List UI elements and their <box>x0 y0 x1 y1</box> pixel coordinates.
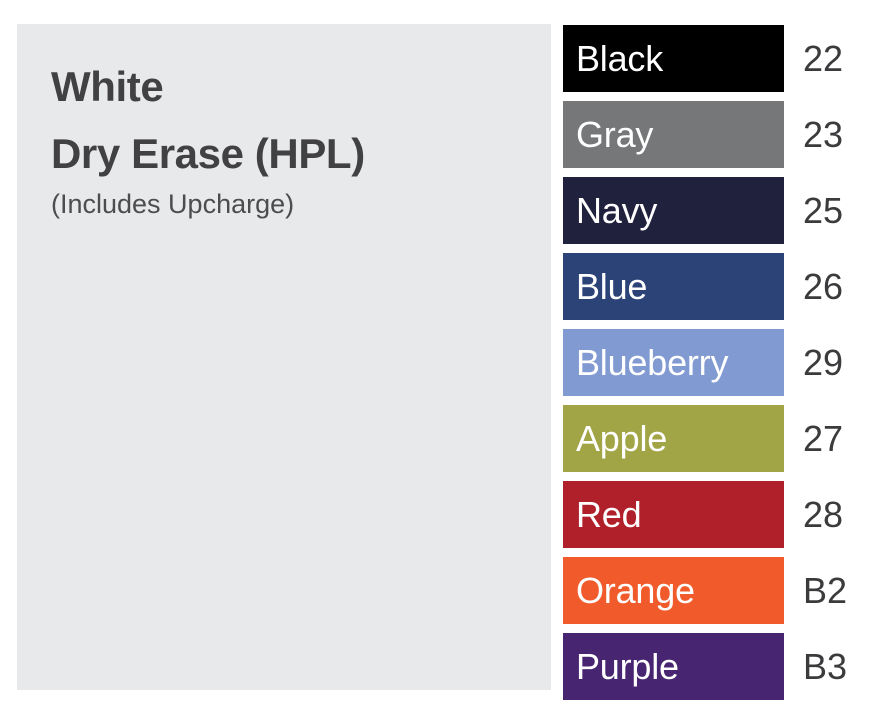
color-code-label: B3 <box>784 633 847 700</box>
finish-title-primary: White <box>51 62 551 111</box>
color-name-label: Purple <box>576 649 679 685</box>
color-code-label: 25 <box>784 177 843 244</box>
finish-info-panel: White Dry Erase (HPL) (Includes Upcharge… <box>17 24 551 690</box>
color-code-label: 23 <box>784 101 843 168</box>
color-swatch[interactable]: Apple <box>563 405 784 472</box>
color-swatch[interactable]: Navy <box>563 177 784 244</box>
finish-title-secondary: Dry Erase (HPL) <box>51 129 551 178</box>
color-code-label: 22 <box>784 25 843 92</box>
color-option-row[interactable]: Blue26 <box>563 253 863 320</box>
color-code-label: 28 <box>784 481 843 548</box>
color-code-label: 29 <box>784 329 843 396</box>
color-swatch[interactable]: Blue <box>563 253 784 320</box>
color-swatch[interactable]: Orange <box>563 557 784 624</box>
color-name-label: Blueberry <box>576 345 728 381</box>
color-name-label: Apple <box>576 421 667 457</box>
color-code-label: 27 <box>784 405 843 472</box>
color-swatch[interactable]: Gray <box>563 101 784 168</box>
color-swatch[interactable]: Black <box>563 25 784 92</box>
color-code-label: B2 <box>784 557 847 624</box>
color-option-row[interactable]: Apple27 <box>563 405 863 472</box>
color-name-label: Blue <box>576 269 647 305</box>
color-option-row[interactable]: PurpleB3 <box>563 633 863 700</box>
color-swatch[interactable]: Blueberry <box>563 329 784 396</box>
color-option-row[interactable]: Gray23 <box>563 101 863 168</box>
color-name-label: Gray <box>576 117 653 153</box>
color-option-row[interactable]: Blueberry29 <box>563 329 863 396</box>
color-swatch[interactable]: Red <box>563 481 784 548</box>
color-option-list: Black22Gray23Navy25Blue26Blueberry29Appl… <box>563 25 863 700</box>
color-swatch[interactable]: Purple <box>563 633 784 700</box>
color-name-label: Orange <box>576 573 695 609</box>
color-option-row[interactable]: Black22 <box>563 25 863 92</box>
color-name-label: Red <box>576 497 641 533</box>
color-option-row[interactable]: Red28 <box>563 481 863 548</box>
color-code-label: 26 <box>784 253 843 320</box>
color-option-row[interactable]: OrangeB2 <box>563 557 863 624</box>
color-option-row[interactable]: Navy25 <box>563 177 863 244</box>
finish-upcharge-note: (Includes Upcharge) <box>51 188 551 220</box>
color-name-label: Navy <box>576 193 657 229</box>
color-name-label: Black <box>576 41 663 77</box>
